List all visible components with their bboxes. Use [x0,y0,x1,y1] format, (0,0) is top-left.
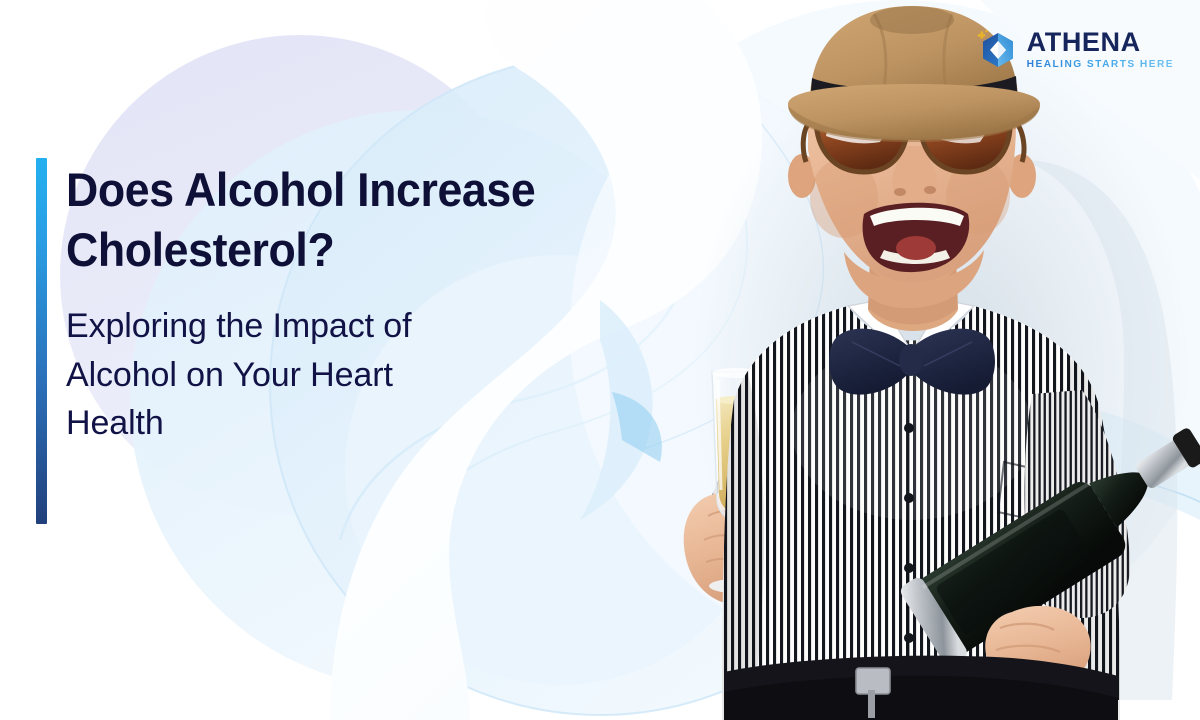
logo-tagline: HEALING STARTS HERE [1027,60,1174,70]
logo-gold-cross-icon [977,31,984,38]
logo-brand-name: ATHENA [1027,29,1174,56]
shirt-button-2 [904,493,914,503]
page-subtitle: Exploring the Impact of Alcohol on Your … [66,302,656,447]
man-illustration-svg [612,0,1200,720]
athena-logo[interactable]: ATHENA HEALING STARTS HERE [976,28,1174,72]
nostril-left [894,188,906,196]
belt-trousers-group [724,656,1118,720]
text-block: Does Alcohol Increase Cholesterol? Explo… [66,160,656,447]
shirt-button-1 [904,423,914,433]
bowtie-knot [899,344,923,376]
logo-mark-svg [976,28,1020,72]
tongue [896,236,936,260]
logo-gold-dot [985,30,988,33]
shirt-button-4 [904,633,914,643]
hat-crown-dent [870,6,954,34]
logo-wordmark: ATHENA HEALING STARTS HERE [1027,29,1174,70]
hero-photo-man [612,0,1200,720]
page-title: Does Alcohol Increase Cholesterol? [66,160,627,280]
left-accent-bar [36,158,47,524]
athena-diamond-icon [976,28,1020,72]
fedora-hat [788,6,1040,142]
nostril-right [924,186,936,194]
hero-banner: Does Alcohol Increase Cholesterol? Explo… [0,0,1200,720]
shirt-button-3 [904,563,914,573]
belt-buckle-prong [868,690,875,718]
